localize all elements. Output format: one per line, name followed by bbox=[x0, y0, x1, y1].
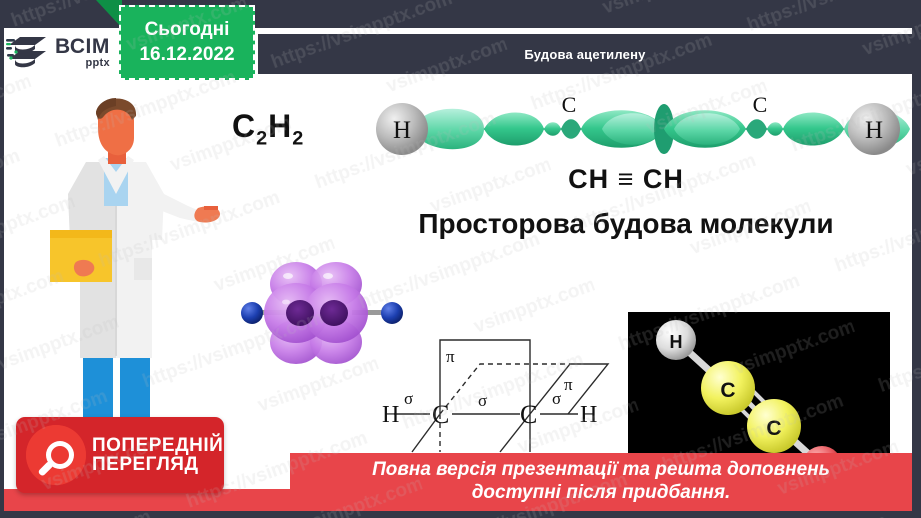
magnifier-icon bbox=[26, 425, 86, 485]
model-h-top: H bbox=[670, 332, 683, 352]
page-title: Будова ацетилену bbox=[524, 47, 645, 62]
sigmapi-sigma-right: σ bbox=[552, 389, 561, 408]
date-badge: Сьогодні 16.12.2022 bbox=[119, 5, 255, 80]
slide-title-bar: Будова ацетилену bbox=[258, 34, 912, 74]
structural-formula: CH ≡ CH bbox=[340, 164, 912, 195]
spatial-structure-caption: Просторова будова молекули bbox=[340, 208, 912, 240]
spatial-structure-caption-text: Просторова будова молекули bbox=[418, 208, 833, 239]
sigmapi-c-left: C bbox=[432, 400, 449, 429]
preview-badge-line2: ПЕРЕГЛЯД bbox=[92, 455, 223, 474]
brand-suffix: pptx bbox=[55, 58, 110, 68]
date-badge-value: 16.12.2022 bbox=[139, 44, 234, 66]
graduation-cap-icon bbox=[6, 33, 52, 73]
presentation-slide: ВСІМ pptx Сьогодні 16.12.2022 Будова аце… bbox=[0, 0, 921, 518]
preview-badge[interactable]: ПОПЕРЕДНІЙ ПЕРЕГЛЯД bbox=[16, 417, 224, 493]
orbital-h-right-label: H bbox=[865, 117, 883, 144]
sigmapi-sigma-left: σ bbox=[404, 389, 413, 408]
sigmapi-sigma-mid: σ bbox=[478, 391, 487, 410]
purchase-notice-line2: доступні після придбання. bbox=[472, 482, 731, 505]
preview-badge-line1: ПОПЕРЕДНІЙ bbox=[92, 436, 223, 455]
formula-hydrogen: H bbox=[268, 108, 292, 144]
structural-formula-text: CH ≡ CH bbox=[568, 164, 684, 194]
model-c-upper: C bbox=[720, 379, 735, 402]
sigmapi-pi-right: π bbox=[564, 375, 573, 394]
sigmapi-h-right: H bbox=[580, 402, 597, 428]
sigma-pi-bond-diagram: H C C H σ σ σ π π bbox=[372, 328, 630, 460]
date-badge-label: Сьогодні bbox=[145, 19, 230, 41]
formula-hydrogen-count: 2 bbox=[292, 127, 304, 149]
orbital-hybridization-diagram: H H C C bbox=[362, 86, 914, 172]
brand-logo[interactable]: ВСІМ pptx bbox=[6, 30, 118, 76]
brand-logo-text: ВСІМ pptx bbox=[55, 37, 110, 68]
model-c-lower: C bbox=[766, 417, 781, 440]
preview-badge-text: ПОПЕРЕДНІЙ ПЕРЕГЛЯД bbox=[92, 436, 223, 474]
formula-carbon-count: 2 bbox=[256, 127, 268, 149]
formula-carbon: C bbox=[232, 108, 256, 144]
orbital-c-right-label: C bbox=[753, 92, 768, 117]
molecular-formula: C2H2 bbox=[232, 108, 304, 150]
ball-and-stick-model: H C C H bbox=[628, 312, 890, 472]
sigmapi-h-left: H bbox=[382, 402, 399, 428]
purchase-notice-banner: Повна версія презентації та решта доповн… bbox=[290, 453, 912, 511]
sigmapi-pi-left: π bbox=[446, 347, 455, 366]
orbital-h-left-label: H bbox=[393, 117, 411, 144]
scientist-illustration bbox=[28, 90, 228, 420]
purchase-notice-line1: Повна версія презентації та решта доповн… bbox=[372, 459, 830, 482]
brand-name: ВСІМ bbox=[55, 37, 110, 57]
orbital-c-left-label: C bbox=[562, 92, 577, 117]
sigmapi-c-right: C bbox=[520, 400, 537, 429]
